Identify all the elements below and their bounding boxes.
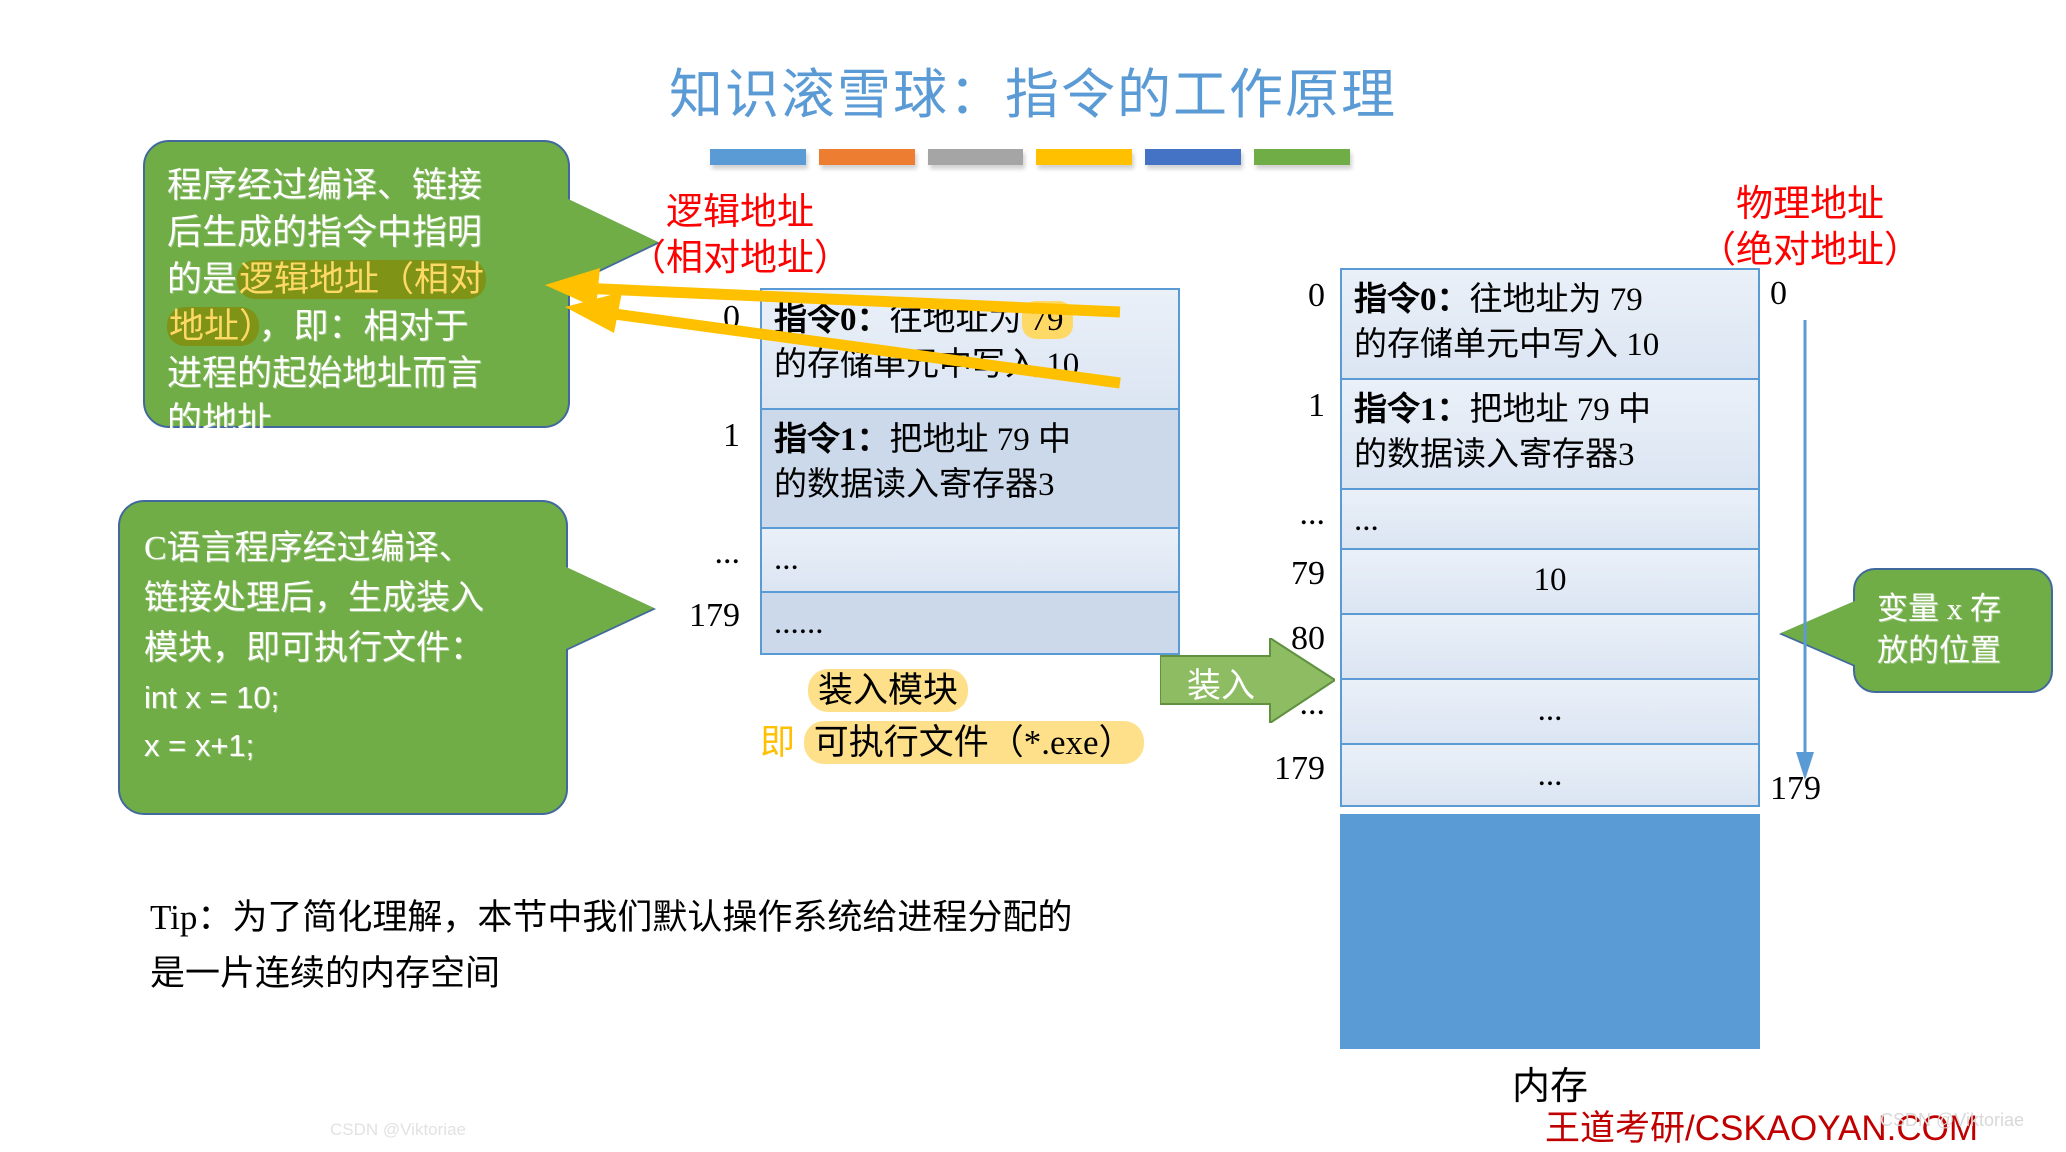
load-module-text: 装入模块 即 可执行文件（*.exe） — [760, 665, 1180, 769]
callout1-line4: 地址），即：相对于 — [167, 303, 546, 350]
load-module-line2: 可执行文件（*.exe） — [804, 721, 1144, 764]
load-module-line2-wrap: 即 可执行文件（*.exe） — [760, 717, 1180, 769]
tip-line2: 是一片连续的内存空间 — [150, 946, 1210, 1002]
logical-row-0-highlight: 79 — [1022, 301, 1073, 339]
physical-row-0-text-a: 往地址为 79 — [1470, 282, 1643, 318]
callout-logical-address-explain: 程序经过编译、链接 后生成的指令中指明 的是逻辑地址（相对 地址），即：相对于 … — [143, 140, 570, 428]
physical-row-1: 指令1：把地址 79 中 的数据读入寄存器3 — [1342, 380, 1758, 490]
tip-line1: Tip：为了简化理解，本节中我们默认操作系统给进程分配的 — [150, 890, 1210, 946]
physical-row-1-text-b: 的数据读入寄存器3 — [1354, 437, 1635, 473]
callout1-line3: 的是逻辑地址（相对 — [167, 256, 546, 303]
physical-row-6: ... — [1342, 745, 1758, 805]
title-decoration-bars — [710, 149, 1350, 165]
logical-row-1-label: 指令1： — [774, 422, 890, 458]
label-logical-address-sub: （相对地址） — [600, 236, 880, 282]
callout2-line1: C语言程序经过编译、 — [144, 524, 544, 574]
callout1-line5: 进程的起始地址而言 — [167, 350, 546, 397]
logical-row-1-text-b: 的数据读入寄存器3 — [774, 467, 1055, 503]
title-bar-5 — [1145, 149, 1241, 165]
physical-scale-179: 179 — [1770, 770, 1880, 808]
physical-row-1-label: 指令1： — [1354, 392, 1470, 428]
load-module-ji: 即 — [760, 723, 795, 762]
physical-row-5: ... — [1342, 680, 1758, 745]
physical-memory-table: 指令0：往地址为 79 的存储单元中写入 10 指令1：把地址 79 中 的数据… — [1340, 268, 1760, 807]
logical-addr-3: 179 — [640, 591, 740, 651]
logical-row-0-label: 指令0： — [774, 302, 890, 338]
physical-addr-4: 80 — [1230, 613, 1325, 678]
logical-address-column: 0 1 ... 179 — [640, 288, 740, 651]
callout1-line6: 的地址 — [167, 397, 546, 444]
watermark-sub2: CSDN @Viktoriae — [330, 1120, 466, 1140]
logical-row-0-text-b: 的存储单元中写入 10 — [774, 347, 1079, 383]
physical-scale-0: 0 — [1770, 275, 1830, 313]
logical-row-1: 指令1：把地址 79 中 的数据读入寄存器3 — [762, 410, 1178, 529]
physical-scale-line — [1796, 320, 1814, 780]
memory-used-block — [1340, 814, 1760, 1049]
logical-row-3: ...... — [762, 593, 1178, 653]
callout2-code-1: int x = 10; — [144, 674, 544, 722]
label-logical-address-main: 逻辑地址 — [600, 190, 880, 236]
physical-addr-6: 179 — [1230, 743, 1325, 803]
title-bar-6 — [1254, 149, 1350, 165]
watermark-sub: CSDN @Viktoriae — [1880, 1110, 2024, 1131]
callout1-line1: 程序经过编译、链接 — [167, 162, 546, 209]
title-bar-1 — [710, 149, 806, 165]
logical-addr-1: 1 — [640, 408, 740, 527]
physical-addr-2: ... — [1230, 488, 1325, 548]
physical-row-4 — [1342, 615, 1758, 680]
callout1-line4-rest: ，即：相对于 — [259, 307, 469, 346]
callout-compile-explain: C语言程序经过编译、 链接处理后，生成装入 模块，即可执行文件： int x =… — [118, 500, 568, 815]
logical-row-1-text-a: 把地址 79 中 — [890, 422, 1072, 458]
page-title: 知识滚雪球：指令的工作原理 — [0, 50, 2066, 129]
callout3-line2: 放的位置 — [1877, 630, 2037, 672]
physical-addr-1: 1 — [1230, 378, 1325, 488]
label-physical-address: 物理地址 （绝对地址） — [1660, 182, 1960, 274]
load-module-line1: 装入模块 — [808, 669, 968, 712]
callout1-line2: 后生成的指令中指明 — [167, 209, 546, 256]
logical-addr-0: 0 — [640, 288, 740, 408]
logical-instruction-table: 指令0：往地址为79 的存储单元中写入 10 指令1：把地址 79 中 的数据读… — [760, 288, 1180, 655]
title-bar-4 — [1036, 149, 1132, 165]
callout2-line3: 模块，即可执行文件： — [144, 624, 544, 674]
callout2-code-2: x = x+1; — [144, 722, 544, 770]
tip-text: Tip：为了简化理解，本节中我们默认操作系统给进程分配的 是一片连续的内存空间 — [150, 890, 1210, 1002]
physical-row-1-text-a: 把地址 79 中 — [1470, 392, 1652, 428]
load-module-line1-wrap: 装入模块 — [760, 665, 1180, 717]
title-bar-2 — [819, 149, 915, 165]
logical-row-0: 指令0：往地址为79 的存储单元中写入 10 — [762, 290, 1178, 410]
callout3-line1: 变量 x 存 — [1877, 588, 2037, 630]
physical-row-0-label: 指令0： — [1354, 282, 1470, 318]
physical-row-0: 指令0：往地址为 79 的存储单元中写入 10 — [1342, 270, 1758, 380]
callout-variable-position: 变量 x 存 放的位置 — [1853, 568, 2053, 693]
callout1-line3-highlight: 逻辑地址（相对 — [237, 260, 486, 299]
physical-address-column: 0 1 ... 79 80 ... 179 — [1230, 268, 1325, 803]
callout1-line4-highlight: 地址） — [167, 307, 259, 346]
physical-row-0-text-b: 的存储单元中写入 10 — [1354, 327, 1659, 363]
callout-tail — [1781, 600, 1857, 666]
logical-addr-2: ... — [640, 527, 740, 591]
label-physical-address-main: 物理地址 — [1660, 182, 1960, 228]
physical-row-3: 10 — [1342, 550, 1758, 615]
callout2-line2: 链接处理后，生成装入 — [144, 574, 544, 624]
label-logical-address: 逻辑地址 （相对地址） — [600, 190, 880, 282]
physical-addr-5: ... — [1230, 678, 1325, 743]
physical-row-2: ... — [1342, 490, 1758, 550]
callout1-line3-prefix: 的是 — [167, 260, 237, 299]
physical-addr-3: 79 — [1230, 548, 1325, 613]
logical-row-0-text-a: 往地址为 — [890, 302, 1022, 338]
logical-row-2: ... — [762, 529, 1178, 593]
physical-addr-0: 0 — [1230, 268, 1325, 378]
title-bar-3 — [928, 149, 1024, 165]
